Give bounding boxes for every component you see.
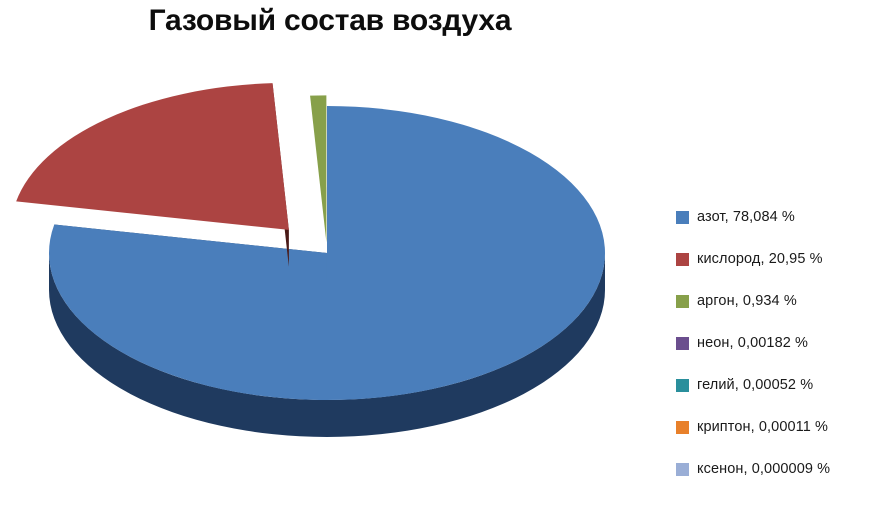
legend-swatch-xenon — [676, 463, 689, 476]
legend-swatch-krypton — [676, 421, 689, 434]
legend-label-nitrogen: азот, 78,084 % — [697, 209, 795, 225]
pie-slices — [16, 83, 605, 437]
legend-item-krypton[interactable]: криптон, 0,00011 % — [676, 406, 892, 448]
legend-swatch-helium — [676, 379, 689, 392]
legend-item-argon[interactable]: аргон, 0,934 % — [676, 280, 892, 322]
legend-label-xenon: ксенон, 0,000009 % — [697, 461, 830, 477]
chart-legend: азот, 78,084 % кислород, 20,95 % аргон, … — [676, 196, 892, 490]
legend-swatch-oxygen — [676, 253, 689, 266]
pie-plot-area — [0, 60, 660, 512]
legend-label-oxygen: кислород, 20,95 % — [697, 251, 823, 267]
legend-swatch-argon — [676, 295, 689, 308]
legend-item-helium[interactable]: гелий, 0,00052 % — [676, 364, 892, 406]
legend-label-krypton: криптон, 0,00011 % — [697, 419, 828, 435]
legend-item-oxygen[interactable]: кислород, 20,95 % — [676, 238, 892, 280]
legend-label-helium: гелий, 0,00052 % — [697, 377, 813, 393]
pie-svg — [0, 60, 660, 512]
legend-item-xenon[interactable]: ксенон, 0,000009 % — [676, 448, 892, 490]
pie-slice-argon-top — [310, 95, 326, 242]
chart-title: Газовый состав воздуха — [0, 4, 660, 38]
legend-swatch-nitrogen — [676, 211, 689, 224]
legend-item-neon[interactable]: неон, 0,00182 % — [676, 322, 892, 364]
pie-chart-figure: Газовый состав воздуха азот, 78,084 % ки… — [0, 0, 892, 512]
legend-label-argon: аргон, 0,934 % — [697, 293, 797, 309]
legend-item-nitrogen[interactable]: азот, 78,084 % — [676, 196, 892, 238]
legend-label-neon: неон, 0,00182 % — [697, 335, 808, 351]
legend-swatch-neon — [676, 337, 689, 350]
pie-slice-oxygen-top — [16, 83, 289, 230]
